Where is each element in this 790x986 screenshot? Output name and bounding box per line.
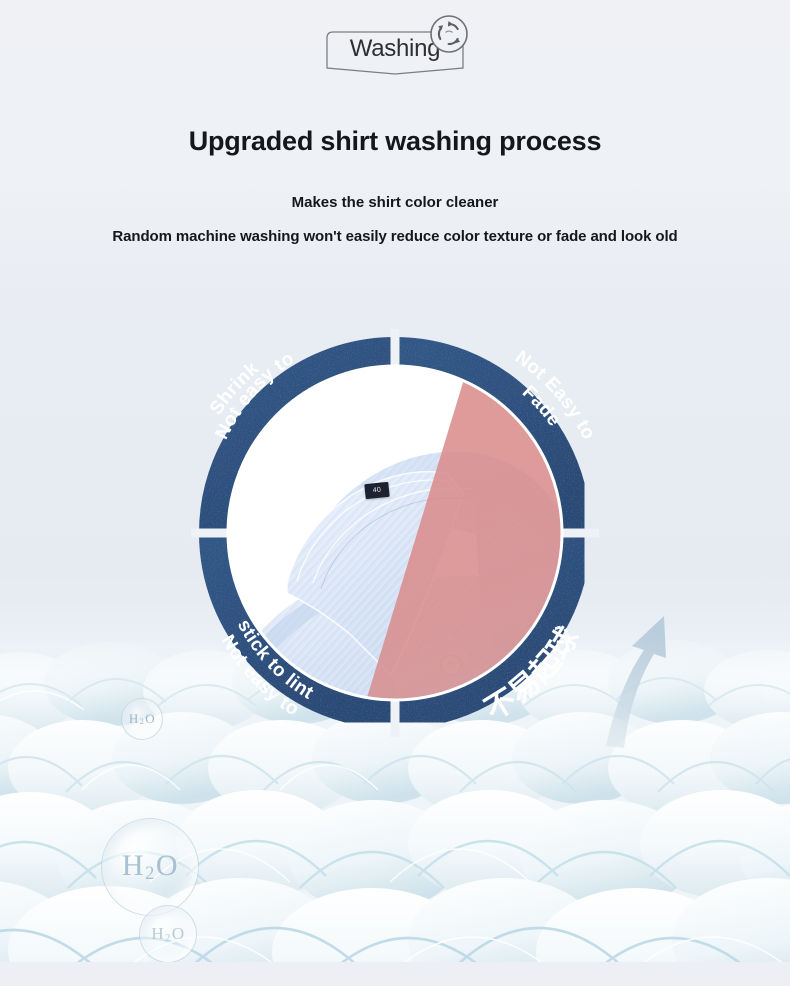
washing-benefits-wheel: Shrink Not easy to Not Easy to Fade Not …	[145, 283, 645, 783]
page-subtitle: Makes the shirt color cleaner	[0, 194, 790, 211]
water-bubble-large: H2O	[101, 818, 199, 916]
page-tagline: Random machine washing won't easily redu…	[0, 228, 790, 245]
water-bubble-small-top: H2O	[121, 698, 163, 740]
bottom-band	[0, 962, 790, 986]
washing-badge: Washing	[321, 28, 469, 76]
collar-size-tag: 40	[364, 482, 389, 499]
washing-process-infographic: Shrink Not easy to Not Easy to Fade Not …	[0, 0, 790, 986]
water-bubble-small-bottom: H2O	[139, 905, 197, 963]
bubble-label: H2O	[151, 924, 184, 944]
recycle-wash-icon	[427, 12, 471, 56]
header-badge-wrap: Washing	[0, 28, 790, 76]
bubble-label: H2O	[129, 711, 155, 727]
page-title: Upgraded shirt washing process	[0, 126, 790, 157]
bubble-label: H2O	[122, 849, 178, 884]
